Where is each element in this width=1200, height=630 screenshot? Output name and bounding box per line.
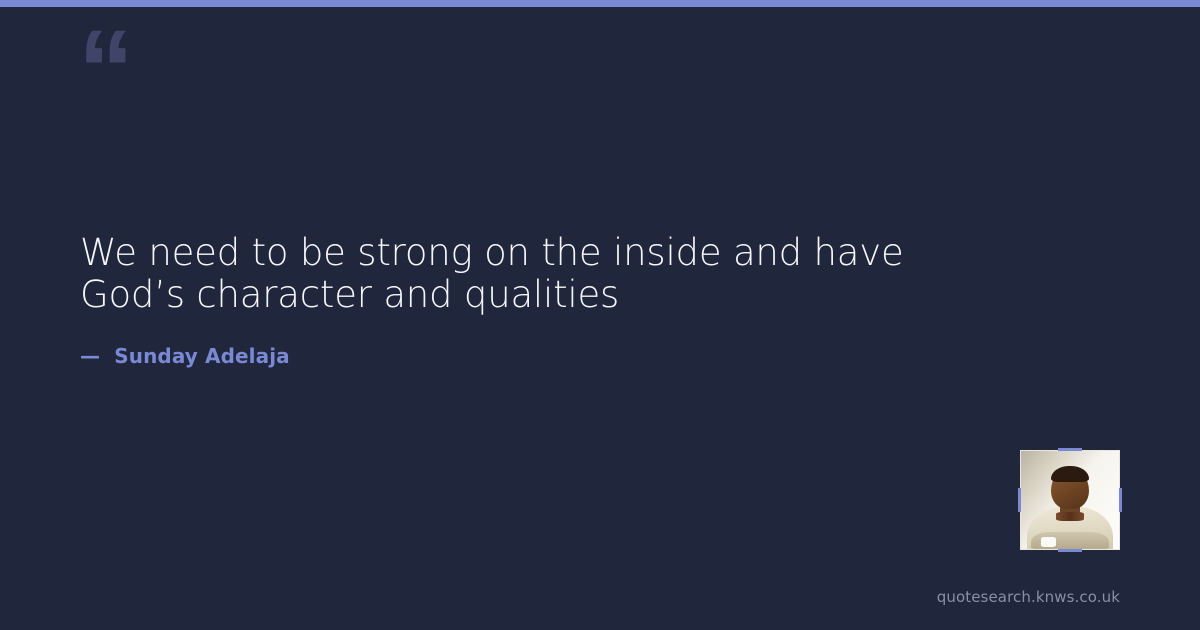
source-url: quotesearch.knws.co.uk: [937, 588, 1120, 606]
author-portrait: [1020, 450, 1120, 550]
focus-tick-bottom-icon: [1058, 549, 1082, 552]
top-accent-bar: [0, 0, 1200, 7]
quote-block: We need to be strong on the inside and h…: [80, 232, 960, 368]
focus-tick-right-icon: [1119, 488, 1122, 512]
quote-card: “ We need to be strong on the inside and…: [0, 0, 1200, 630]
focus-tick-left-icon: [1018, 488, 1021, 512]
author-portrait-frame: [1020, 450, 1120, 550]
portrait-bowtie: [1056, 512, 1083, 521]
quotation-mark-icon: “: [78, 14, 132, 126]
focus-tick-top-icon: [1058, 448, 1082, 451]
quote-attribution: — Sunday Adelaja: [80, 316, 960, 368]
portrait-cuff: [1041, 537, 1057, 547]
quote-text: We need to be strong on the inside and h…: [80, 232, 960, 316]
